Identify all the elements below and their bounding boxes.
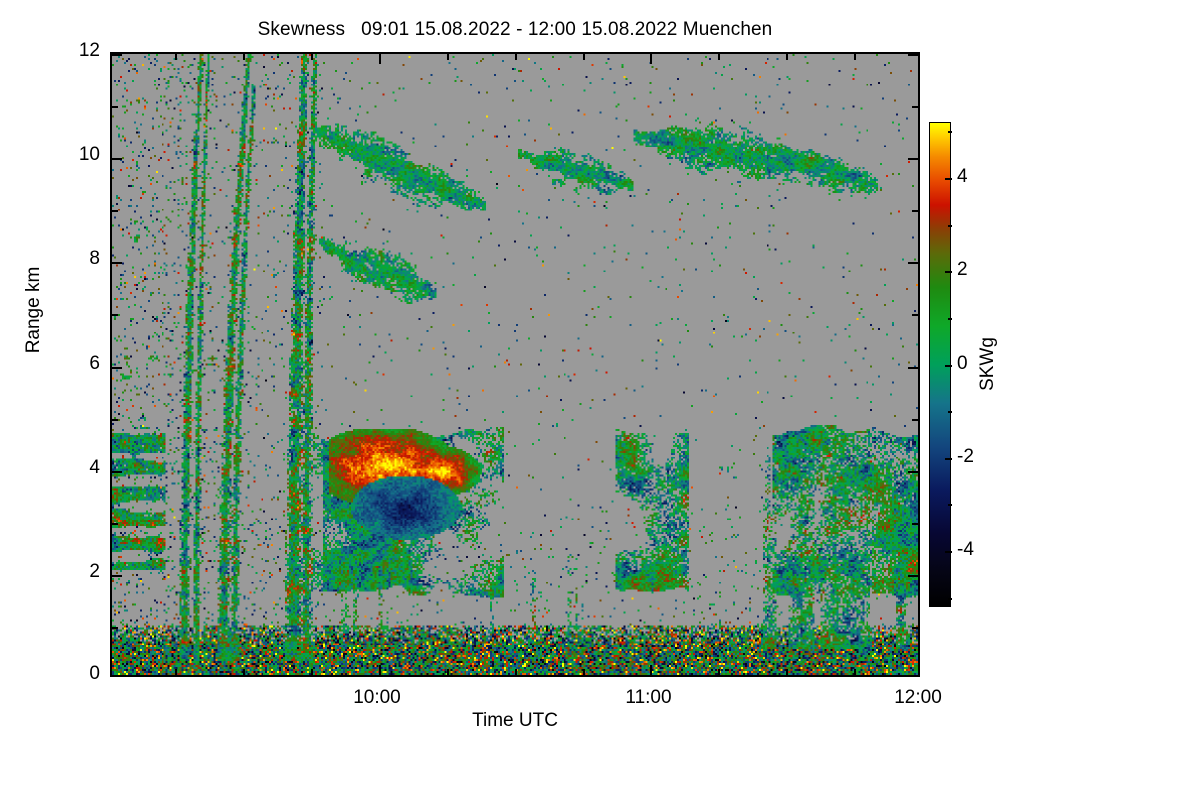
- y-axis-tick-label: 12: [52, 40, 100, 62]
- axis-tick: [311, 54, 313, 60]
- x-axis-title: Time UTC: [110, 710, 920, 732]
- axis-tick: [447, 54, 449, 60]
- x-axis-tick-label: 12:00: [868, 687, 968, 709]
- axis-tick: [718, 669, 720, 675]
- axis-tick: [311, 669, 313, 675]
- x-axis-tick-label: 10:00: [327, 687, 427, 709]
- axis-tick: [175, 669, 177, 675]
- colorbar-tick-label: 4: [957, 166, 968, 188]
- y-axis-tick-label: 4: [52, 457, 100, 479]
- axis-tick: [112, 106, 118, 108]
- colorbar-tick: [948, 225, 952, 227]
- colorbar-tick: [945, 365, 952, 367]
- figure-canvas: Skewness 09:01 15.08.2022 - 12:00 15.08.…: [0, 0, 1200, 800]
- axis-tick: [786, 54, 788, 60]
- heatmap-plot-area[interactable]: [110, 52, 920, 677]
- axis-tick: [243, 669, 245, 675]
- page-title: Skewness 09:01 15.08.2022 - 12:00 15.08.…: [0, 19, 1030, 41]
- axis-tick: [583, 669, 585, 675]
- colorbar-tick-label: -2: [957, 446, 974, 468]
- axis-tick: [718, 54, 720, 60]
- axis-tick: [912, 314, 918, 316]
- axis-tick: [650, 665, 652, 675]
- axis-tick: [908, 471, 918, 473]
- colorbar-tick-label: -4: [957, 539, 974, 561]
- axis-tick: [112, 627, 118, 629]
- axis-tick: [379, 54, 381, 64]
- axis-tick: [175, 54, 177, 60]
- axis-tick: [908, 262, 918, 264]
- axis-tick: [912, 419, 918, 421]
- axis-tick: [112, 367, 122, 369]
- axis-tick: [908, 54, 918, 56]
- axis-tick: [112, 158, 122, 160]
- colorbar-tick: [948, 318, 952, 320]
- colorbar-tick: [948, 504, 952, 506]
- axis-tick: [854, 54, 856, 60]
- axis-tick: [379, 665, 381, 675]
- axis-tick: [447, 669, 449, 675]
- axis-tick: [912, 523, 918, 525]
- axis-tick: [583, 54, 585, 60]
- axis-tick: [515, 669, 517, 675]
- colorbar-tick: [945, 271, 952, 273]
- axis-tick: [112, 314, 118, 316]
- colorbar-tick-label: 2: [957, 259, 968, 281]
- colorbar[interactable]: [929, 122, 951, 607]
- axis-tick: [912, 106, 918, 108]
- axis-tick: [912, 210, 918, 212]
- y-axis-tick-label: 0: [52, 663, 100, 685]
- axis-tick: [112, 210, 118, 212]
- axis-tick: [112, 262, 122, 264]
- axis-tick: [112, 54, 122, 56]
- axis-tick: [786, 669, 788, 675]
- colorbar-tick: [945, 178, 952, 180]
- axis-tick: [243, 54, 245, 60]
- axis-tick: [515, 54, 517, 60]
- colorbar-tick: [948, 131, 952, 133]
- axis-tick: [908, 158, 918, 160]
- colorbar-tick: [948, 411, 952, 413]
- y-axis-tick-label: 2: [52, 561, 100, 583]
- axis-tick: [854, 669, 856, 675]
- axis-tick: [112, 575, 122, 577]
- axis-tick: [112, 419, 118, 421]
- colorbar-tick: [948, 598, 952, 600]
- axis-tick: [908, 575, 918, 577]
- skewness-heatmap: [112, 54, 918, 675]
- y-axis-tick-label: 6: [52, 353, 100, 375]
- x-axis-tick-label: 11:00: [598, 687, 698, 709]
- colorbar-title: SKWg: [977, 337, 999, 391]
- colorbar-tick-label: 0: [957, 353, 968, 375]
- y-axis-title: Range km: [23, 267, 45, 354]
- axis-tick: [908, 367, 918, 369]
- axis-tick: [112, 471, 122, 473]
- colorbar-tick: [945, 458, 952, 460]
- axis-tick: [112, 523, 118, 525]
- y-axis-tick-label: 8: [52, 248, 100, 270]
- axis-tick: [650, 54, 652, 64]
- colorbar-tick: [945, 551, 952, 553]
- y-axis-tick-label: 10: [52, 144, 100, 166]
- axis-tick: [912, 627, 918, 629]
